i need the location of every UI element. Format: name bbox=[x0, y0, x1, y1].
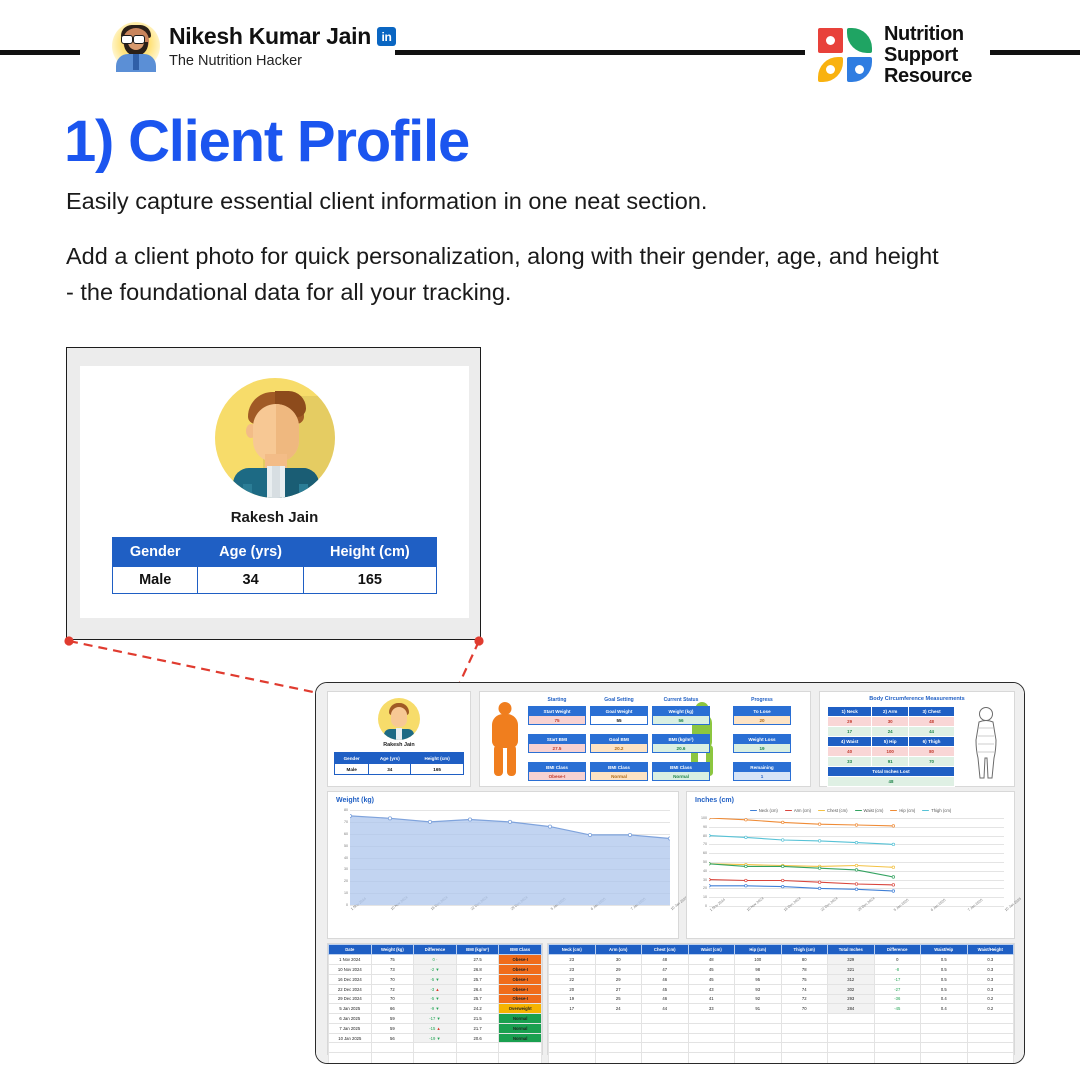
cell-date: 5 Jan 2025 bbox=[329, 1004, 372, 1014]
stat-value: 1 bbox=[733, 772, 791, 781]
cell-hip: 100 bbox=[735, 955, 782, 965]
page-header: Nikesh Kumar Jain in The Nutrition Hacke… bbox=[0, 0, 1080, 92]
cell-hip: 91 bbox=[735, 1004, 782, 1014]
cell-empty bbox=[595, 1023, 642, 1033]
cell-difference: -17 bbox=[874, 974, 921, 984]
cell-hip: 93 bbox=[735, 984, 782, 994]
cell-thigh: 74 bbox=[781, 984, 828, 994]
data-point bbox=[781, 865, 784, 868]
cell-empty bbox=[781, 1043, 828, 1053]
logo-line-1: Nutrition bbox=[884, 24, 972, 45]
column-header-2: Chest (cm) bbox=[642, 945, 689, 955]
author-name: Nikesh Kumar Jain bbox=[169, 23, 371, 50]
cell-weight: 70 bbox=[371, 994, 414, 1004]
cell-bmi: 25.7 bbox=[456, 994, 499, 1004]
circumference-table: 1) Neck 2) Arm 3) Chest 29 30 48 17 24 4… bbox=[827, 706, 955, 787]
cell-waist: 41 bbox=[688, 994, 735, 1004]
legend-item[interactable]: Thigh (cm) bbox=[922, 808, 951, 813]
cell-total: 293 bbox=[828, 994, 875, 1004]
cell-empty bbox=[874, 1014, 921, 1024]
table-row[interactable]: 29 Dec 202470-5 ▼25.7Obese-I bbox=[329, 994, 542, 1004]
table-row: 17 24 44 bbox=[828, 727, 955, 737]
weight-chart-panel: Weight (kg) 010203040506070801 Nov 20241… bbox=[327, 791, 679, 939]
cell-gender[interactable]: Male bbox=[113, 567, 198, 594]
trend-down-icon: ▼ bbox=[435, 977, 439, 982]
cell-thigh-start[interactable]: 80 bbox=[909, 747, 955, 757]
table-row[interactable]: 5 Jan 202566-9 ▼24.2Overweight bbox=[329, 1004, 542, 1014]
weight-log-table-panel[interactable]: DateWeight (kg)DifferenceBMI (kg/m²)BMI … bbox=[327, 943, 543, 1055]
cell-empty bbox=[688, 1033, 735, 1043]
y-axis-tick: 50 bbox=[334, 844, 348, 848]
cell-total: 284 bbox=[828, 1004, 875, 1014]
table-row: 40 100 80 bbox=[828, 747, 955, 757]
cell-height[interactable]: 165 bbox=[303, 567, 436, 594]
column-header-1: Weight (kg) bbox=[371, 945, 414, 955]
stat-start-bmi[interactable]: Start BMI 27.5 bbox=[528, 734, 586, 753]
stat-label: Start BMI bbox=[528, 734, 586, 744]
cell-empty bbox=[921, 1023, 968, 1033]
cell-empty bbox=[549, 1023, 596, 1033]
cell-bmi-class: Overweight bbox=[499, 1004, 542, 1014]
data-point bbox=[818, 823, 821, 826]
cell-difference: -3 ▲ bbox=[414, 984, 457, 994]
legend-label: Arm (cm) bbox=[794, 808, 811, 813]
data-point bbox=[668, 837, 670, 840]
footer-cell bbox=[688, 1053, 735, 1064]
legend-item[interactable]: Arm (cm) bbox=[785, 808, 811, 813]
stat-current-bmi[interactable]: BMI (kg/m²) 20.6 bbox=[652, 734, 710, 753]
body-outline-icon bbox=[966, 706, 1006, 780]
cell-difference: -27 bbox=[874, 984, 921, 994]
column-header-gender: Gender bbox=[335, 753, 369, 764]
header-thigh: 6) Thigh bbox=[909, 737, 955, 747]
dashboard-client-avatar bbox=[378, 698, 420, 740]
cell-difference: 0 - bbox=[414, 955, 457, 965]
y-axis-tick: 70 bbox=[693, 842, 707, 846]
stat-label: Remaining bbox=[733, 762, 791, 772]
cell-empty bbox=[828, 1033, 875, 1043]
header-hip: 5) Hip bbox=[872, 737, 909, 747]
data-point bbox=[709, 884, 710, 887]
footer-cell bbox=[414, 1053, 457, 1064]
cell-bmi-class: Obese-I bbox=[499, 994, 542, 1004]
cell-arm-start[interactable]: 30 bbox=[872, 717, 909, 727]
cell-thigh: 75 bbox=[781, 974, 828, 984]
cell-chest: 48 bbox=[642, 955, 689, 965]
cell-empty bbox=[642, 1043, 689, 1053]
cell-bmi: 21.5 bbox=[456, 1014, 499, 1024]
y-axis-tick: 100 bbox=[693, 816, 707, 820]
cell-empty bbox=[642, 1014, 689, 1024]
cell-bmi-class: Obese-I bbox=[499, 974, 542, 984]
stat-value: 20 bbox=[733, 716, 791, 725]
table-row[interactable]: 16 Dec 202470-5 ▼25.7Obese-I bbox=[329, 974, 542, 984]
data-point bbox=[855, 869, 858, 872]
cell-empty bbox=[781, 1023, 828, 1033]
cell-difference: -45 bbox=[874, 1004, 921, 1014]
table-row-empty bbox=[549, 1043, 1014, 1053]
stat-start-weight[interactable]: Start Weight 75 bbox=[528, 706, 586, 725]
client-name: Rakesh Jain bbox=[80, 509, 469, 526]
column-header-2: Difference bbox=[414, 945, 457, 955]
inches-chart-title: Inches (cm) bbox=[695, 797, 734, 804]
cell-weight: 59 bbox=[371, 1014, 414, 1024]
cell-date: 6 Jan 2025 bbox=[329, 1014, 372, 1024]
dashboard-profile-panel: Rakesh Jain Gender Age (yrs) Height (cm)… bbox=[327, 691, 471, 787]
cell-total: 329 bbox=[828, 955, 875, 965]
cell-waist: 33 bbox=[688, 1004, 735, 1014]
cell-total: 312 bbox=[828, 974, 875, 984]
cell-bmi-class: Normal bbox=[499, 1014, 542, 1024]
cell-difference: -17 ▼ bbox=[414, 1014, 457, 1024]
cell-thigh: 80 bbox=[781, 955, 828, 965]
legend-label: Thigh (cm) bbox=[931, 808, 951, 813]
header-rule-middle bbox=[395, 50, 805, 55]
table-row[interactable]: 222946459575312-170.50.3 bbox=[549, 974, 1014, 984]
cell-empty bbox=[967, 1014, 1014, 1024]
cell-arm: 30 bbox=[595, 955, 642, 965]
table-header-row: Gender Age (yrs) Height (cm) bbox=[113, 538, 437, 567]
y-axis-tick: 30 bbox=[334, 867, 348, 871]
cell-empty bbox=[688, 1014, 735, 1024]
cell-difference: 0 bbox=[874, 955, 921, 965]
table-row[interactable]: 6 Jan 202559-17 ▼21.5Normal bbox=[329, 1014, 542, 1024]
stat-current-weight[interactable]: Weight (kg) 56 bbox=[652, 706, 710, 725]
cell-arm: 29 bbox=[595, 974, 642, 984]
cell-date: 1 Nov 2024 bbox=[329, 955, 372, 965]
y-axis-tick: 10 bbox=[334, 891, 348, 895]
stat-label: BMI Class bbox=[652, 762, 710, 772]
cell-empty bbox=[595, 1033, 642, 1043]
table-footer-row bbox=[329, 1053, 542, 1064]
cell-bmi-class: Obese-I bbox=[499, 984, 542, 994]
stat-goal-bmi-class[interactable]: BMI Class Normal bbox=[590, 762, 648, 781]
cell-age[interactable]: 34 bbox=[198, 567, 303, 594]
footer-cell bbox=[499, 1053, 542, 1064]
cell-neck: 23 bbox=[549, 965, 596, 975]
cell-wh: 0.4 bbox=[921, 1004, 968, 1014]
table-row: Male 34 165 bbox=[113, 567, 437, 594]
cell-difference: -5 ▼ bbox=[414, 994, 457, 1004]
cell-wht: 0.2 bbox=[967, 994, 1014, 1004]
measurements-log-table: Neck (cm)Arm (cm)Chest (cm)Waist (cm)Hip… bbox=[548, 944, 1014, 1064]
cell-chest: 47 bbox=[642, 965, 689, 975]
table-row[interactable]: 10 Nov 202473-2 ▼26.8Obese-I bbox=[329, 965, 542, 975]
data-point bbox=[892, 890, 895, 893]
cell-chest-start[interactable]: 48 bbox=[909, 717, 955, 727]
table-header-row: Neck (cm)Arm (cm)Chest (cm)Waist (cm)Hip… bbox=[549, 945, 1014, 955]
cell-empty bbox=[735, 1043, 782, 1053]
trend-up-icon: ▲ bbox=[435, 987, 439, 992]
y-axis-tick: 40 bbox=[693, 869, 707, 873]
dashboard-preview[interactable]: Rakesh Jain Gender Age (yrs) Height (cm)… bbox=[315, 682, 1025, 1064]
table-row: 29 30 48 bbox=[828, 717, 955, 727]
cell-neck: 19 bbox=[549, 994, 596, 1004]
table-row-empty bbox=[329, 1043, 542, 1053]
client-avatar bbox=[215, 378, 335, 498]
y-axis-tick: 50 bbox=[693, 860, 707, 864]
header-chest: 3) Chest bbox=[909, 707, 955, 717]
header-arm: 2) Arm bbox=[872, 707, 909, 717]
cell-weight: 72 bbox=[371, 984, 414, 994]
stat-value: Normal bbox=[652, 772, 710, 781]
footer-cell bbox=[735, 1053, 782, 1064]
table-row[interactable]: 192546419272293-360.40.2 bbox=[549, 994, 1014, 1004]
cell-waist: 43 bbox=[688, 984, 735, 994]
legend-swatch bbox=[818, 810, 825, 812]
legend-label: Chest (cm) bbox=[827, 808, 847, 813]
inches-chart-panel: Inches (cm) Neck (cm)Arm (cm)Chest (cm)W… bbox=[686, 791, 1015, 939]
header-neck: 1) Neck bbox=[828, 707, 872, 717]
cell-difference: -8 bbox=[874, 965, 921, 975]
data-point bbox=[781, 885, 784, 888]
cell-arm-now[interactable]: 24 bbox=[872, 727, 909, 737]
data-point bbox=[892, 843, 895, 846]
client-attributes-table: Gender Age (yrs) Height (cm) Male 34 165 bbox=[112, 537, 437, 594]
series-line bbox=[709, 886, 893, 891]
cell-neck-now[interactable]: 17 bbox=[828, 727, 872, 737]
data-point bbox=[388, 817, 391, 820]
cell-empty bbox=[371, 1043, 414, 1053]
dashboard-stats-panel: Starting Goal Setting Current Status Pro… bbox=[479, 691, 811, 787]
cell-bmi: 26.4 bbox=[456, 984, 499, 994]
cell-empty bbox=[688, 1023, 735, 1033]
cell-bmi-class: Normal bbox=[499, 1023, 542, 1033]
column-header-0: Neck (cm) bbox=[549, 945, 596, 955]
table-header-row: 1) Neck 2) Arm 3) Chest bbox=[828, 707, 955, 717]
brand-block: Nikesh Kumar Jain in The Nutrition Hacke… bbox=[112, 22, 396, 70]
stat-current-bmi-class[interactable]: BMI Class Normal bbox=[652, 762, 710, 781]
stat-to-lose[interactable]: To Lose 20 bbox=[733, 706, 791, 725]
table-row[interactable]: 1 Nov 2024750 -27.5Obese-I bbox=[329, 955, 542, 965]
legend-label: Neck (cm) bbox=[759, 808, 778, 813]
cell-hip-now[interactable]: 91 bbox=[872, 757, 909, 767]
stat-start-bmi-class[interactable]: BMI Class Obese-I bbox=[528, 762, 586, 781]
stat-remaining[interactable]: Remaining 1 bbox=[733, 762, 791, 781]
client-profile-zoom-card: Rakesh Jain Gender Age (yrs) Height (cm)… bbox=[66, 347, 481, 640]
weight-log-table: DateWeight (kg)DifferenceBMI (kg/m²)BMI … bbox=[328, 944, 542, 1064]
column-header-0: Date bbox=[329, 945, 372, 955]
cell-empty bbox=[828, 1043, 875, 1053]
cell-neck: 17 bbox=[549, 1004, 596, 1014]
data-point bbox=[892, 876, 895, 879]
stat-label: BMI Class bbox=[528, 762, 586, 772]
cell-total-inches-lost[interactable]: 48 bbox=[828, 777, 955, 787]
data-point bbox=[588, 833, 591, 836]
stats-column-goal: Goal Setting bbox=[590, 697, 648, 703]
table-row[interactable]: 10 Jan 202556-19 ▼20.6Normal bbox=[329, 1033, 542, 1043]
trend-none-icon: - bbox=[436, 957, 437, 962]
series-line bbox=[709, 880, 893, 885]
measurements-log-table-panel[interactable]: Neck (cm)Arm (cm)Chest (cm)Waist (cm)Hip… bbox=[547, 943, 1015, 1055]
cell-neck-start[interactable]: 29 bbox=[828, 717, 872, 727]
cell-empty bbox=[735, 1023, 782, 1033]
table-row[interactable]: 7 Jan 202559-15 ▲21.7Normal bbox=[329, 1023, 542, 1033]
cell-chest: 46 bbox=[642, 974, 689, 984]
cell-empty bbox=[828, 1014, 875, 1024]
cell-waist-now[interactable]: 33 bbox=[828, 757, 872, 767]
column-header-5: Thigh (cm) bbox=[781, 945, 828, 955]
chart-series-layer bbox=[350, 810, 670, 905]
cell-empty bbox=[595, 1014, 642, 1024]
column-header-9: Waist/Height bbox=[967, 945, 1014, 955]
cell-age[interactable]: 34 bbox=[369, 764, 411, 775]
legend-swatch bbox=[890, 810, 897, 812]
table-row[interactable]: 172444339170284-450.40.2 bbox=[549, 1004, 1014, 1014]
series-line bbox=[709, 836, 893, 845]
cell-bmi: 25.7 bbox=[456, 974, 499, 984]
column-header-3: Waist (cm) bbox=[688, 945, 735, 955]
data-point bbox=[508, 820, 511, 823]
cell-empty bbox=[921, 1033, 968, 1043]
cell-hip: 95 bbox=[735, 974, 782, 984]
data-point bbox=[781, 879, 784, 882]
cell-empty bbox=[828, 1023, 875, 1033]
column-header-height: Height (cm) bbox=[411, 753, 464, 764]
y-axis-tick: 30 bbox=[693, 878, 707, 882]
linkedin-icon[interactable]: in bbox=[377, 27, 396, 46]
data-point bbox=[892, 866, 895, 869]
cell-difference: -9 ▼ bbox=[414, 1004, 457, 1014]
y-axis-tick: 70 bbox=[334, 820, 348, 824]
data-point bbox=[548, 825, 551, 828]
cell-empty bbox=[549, 1043, 596, 1053]
cell-bmi-class: Obese-I bbox=[499, 965, 542, 975]
inches-chart-plot: 01020304050607080901001 Nov 202410 Nov 2… bbox=[709, 818, 1004, 906]
cell-wht: 0.3 bbox=[967, 955, 1014, 965]
trend-down-icon: ▼ bbox=[435, 996, 439, 1001]
circumference-title: Body Circumference Measurements bbox=[820, 696, 1014, 702]
dashboard-circumference-panel: Body Circumference Measurements 1) Neck … bbox=[819, 691, 1015, 787]
footer-cell bbox=[549, 1053, 596, 1064]
stat-weight-loss[interactable]: Weight Loss 19 bbox=[733, 734, 791, 753]
legend-label: Waist (cm) bbox=[864, 808, 884, 813]
footer-cell bbox=[642, 1053, 689, 1064]
data-point bbox=[892, 884, 895, 887]
legend-label: Hip (cm) bbox=[899, 808, 915, 813]
data-point bbox=[855, 883, 858, 886]
table-row[interactable]: 233048481008032900.50.3 bbox=[549, 955, 1014, 965]
nutrition-support-resource-logo: Nutrition Support Resource bbox=[818, 24, 972, 88]
y-axis-tick: 60 bbox=[334, 832, 348, 836]
column-header-1: Arm (cm) bbox=[595, 945, 642, 955]
table-footer-row bbox=[549, 1053, 1014, 1064]
cell-waist: 48 bbox=[688, 955, 735, 965]
data-point bbox=[855, 888, 858, 891]
table-row[interactable]: 232947459878321-80.50.3 bbox=[549, 965, 1014, 975]
cell-weight: 59 bbox=[371, 1023, 414, 1033]
cell-empty bbox=[735, 1033, 782, 1043]
legend-item[interactable]: Hip (cm) bbox=[890, 808, 915, 813]
cell-gender[interactable]: Male bbox=[335, 764, 369, 775]
table-header-row: 4) Waist 5) Hip 6) Thigh bbox=[828, 737, 955, 747]
cell-chest: 45 bbox=[642, 984, 689, 994]
stat-value: Normal bbox=[590, 772, 648, 781]
cell-date: 22 Dec 2024 bbox=[329, 984, 372, 994]
cell-thigh-now[interactable]: 70 bbox=[909, 757, 955, 767]
cell-chest-now[interactable]: 44 bbox=[909, 727, 955, 737]
data-point bbox=[818, 840, 821, 843]
y-axis-tick: 40 bbox=[334, 856, 348, 860]
table-header-row: Gender Age (yrs) Height (cm) bbox=[335, 753, 464, 764]
data-point bbox=[855, 864, 858, 867]
stat-goal-weight[interactable]: Goal Weight 55 bbox=[590, 706, 648, 725]
cell-date: 16 Dec 2024 bbox=[329, 974, 372, 984]
data-point bbox=[628, 833, 631, 836]
stat-goal-bmi[interactable]: Goal BMI 20.2 bbox=[590, 734, 648, 753]
legend-item[interactable]: Chest (cm) bbox=[818, 808, 847, 813]
stat-label: BMI Class bbox=[590, 762, 648, 772]
cell-date: 7 Jan 2025 bbox=[329, 1023, 372, 1033]
y-axis-tick: 80 bbox=[334, 808, 348, 812]
data-point bbox=[709, 862, 710, 865]
header-total-inches-lost: Total Inches Lost bbox=[828, 767, 955, 777]
cell-thigh: 72 bbox=[781, 994, 828, 1004]
author-name-row: Nikesh Kumar Jain in bbox=[169, 23, 396, 50]
cell-hip-start[interactable]: 100 bbox=[872, 747, 909, 757]
cell-wht: 0.3 bbox=[967, 965, 1014, 975]
weight-area bbox=[350, 816, 670, 905]
trend-down-icon: ▼ bbox=[437, 1036, 441, 1041]
cell-date: 29 Dec 2024 bbox=[329, 994, 372, 1004]
cell-bmi-class: Normal bbox=[499, 1033, 542, 1043]
column-header-7: Difference bbox=[874, 945, 921, 955]
cell-empty bbox=[414, 1043, 457, 1053]
cell-weight: 75 bbox=[371, 955, 414, 965]
data-point bbox=[350, 814, 352, 817]
footer-cell bbox=[371, 1053, 414, 1064]
cell-bmi: 24.2 bbox=[456, 1004, 499, 1014]
stat-value: 75 bbox=[528, 716, 586, 725]
data-point bbox=[745, 836, 748, 839]
cell-weight: 66 bbox=[371, 1004, 414, 1014]
legend-swatch bbox=[922, 810, 929, 812]
cell-empty bbox=[329, 1043, 372, 1053]
cell-wh: 0.5 bbox=[921, 955, 968, 965]
cell-empty bbox=[967, 1033, 1014, 1043]
stats-column-starting: Starting bbox=[528, 697, 586, 703]
cell-wh: 0.5 bbox=[921, 974, 968, 984]
header-rule-left bbox=[0, 50, 80, 55]
header-waist: 4) Waist bbox=[828, 737, 872, 747]
column-header-gender: Gender bbox=[113, 538, 198, 567]
legend-item[interactable]: Neck (cm) bbox=[750, 808, 778, 813]
cell-empty bbox=[874, 1043, 921, 1053]
cell-empty bbox=[874, 1023, 921, 1033]
cell-difference: -19 ▼ bbox=[414, 1033, 457, 1043]
column-header-age: Age (yrs) bbox=[369, 753, 411, 764]
cell-height[interactable]: 165 bbox=[411, 764, 464, 775]
trend-down-icon: ▼ bbox=[435, 967, 439, 972]
y-axis-tick: 0 bbox=[334, 903, 348, 907]
logo-line-2: Support bbox=[884, 45, 972, 66]
data-point bbox=[428, 820, 431, 823]
legend-swatch bbox=[750, 810, 757, 812]
data-point bbox=[745, 879, 748, 882]
cell-empty bbox=[549, 1014, 596, 1024]
stats-column-progress: Progress bbox=[733, 697, 791, 703]
weight-chart-plot: 010203040506070801 Nov 202410 Nov 202416… bbox=[350, 810, 670, 905]
cell-empty bbox=[499, 1043, 542, 1053]
table-row[interactable]: 22 Dec 202472-3 ▲26.4Obese-I bbox=[329, 984, 542, 994]
footer-cell bbox=[967, 1053, 1014, 1064]
table-row[interactable]: 202745439374302-270.50.3 bbox=[549, 984, 1014, 994]
author-avatar bbox=[112, 22, 160, 70]
body-silhouette-start-icon bbox=[490, 702, 520, 776]
cell-waist-start[interactable]: 40 bbox=[828, 747, 872, 757]
legend-item[interactable]: Waist (cm) bbox=[855, 808, 884, 813]
data-point bbox=[709, 818, 710, 819]
